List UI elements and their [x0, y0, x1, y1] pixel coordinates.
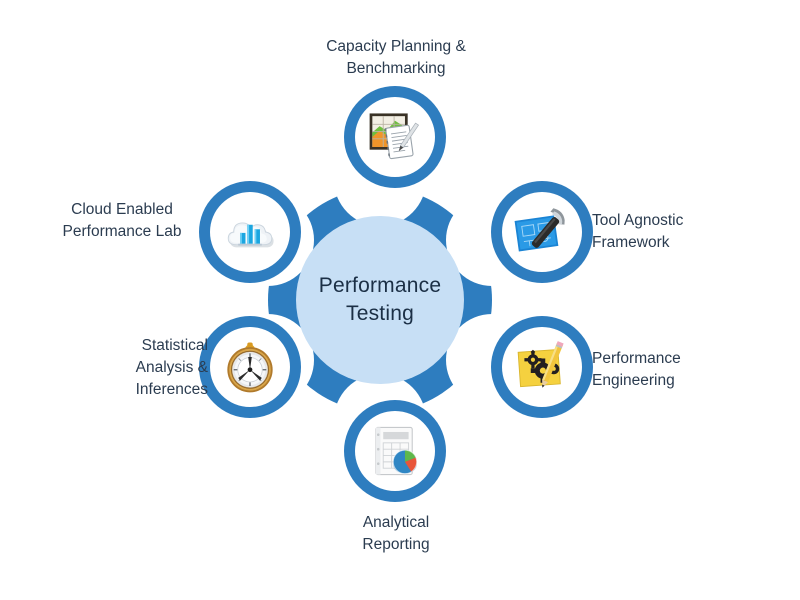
caption-statistical-analysis: Statistical Analysis & Inferences [76, 335, 208, 401]
node-statistical-analysis[interactable] [199, 316, 301, 418]
node-analytical-reporting[interactable] [344, 400, 446, 502]
blueprint-hammer-icon [513, 203, 571, 261]
gears-note-pencil-icon [513, 338, 571, 396]
node-face [210, 192, 290, 272]
node-face [502, 327, 582, 407]
node-performance-engineering[interactable] [491, 316, 593, 418]
compass-icon [221, 338, 279, 396]
center-hub[interactable]: Performance Testing [268, 188, 492, 412]
cloud-barchart-icon [221, 203, 279, 261]
caption-performance-engineering: Performance Engineering [592, 348, 762, 392]
node-face [210, 327, 290, 407]
caption-cloud-performance-lab: Cloud Enabled Performance Lab [36, 199, 208, 243]
node-face [355, 97, 435, 177]
node-face [502, 192, 582, 272]
caption-capacity-planning: Capacity Planning & Benchmarking [296, 36, 496, 80]
chart-notepad-icon [366, 108, 424, 166]
center-label-line-1: Performance [319, 272, 441, 300]
diagram-canvas: Performance Testing [0, 0, 800, 600]
report-piechart-icon [366, 422, 424, 480]
center-label-line-2: Testing [346, 300, 414, 328]
caption-tool-agnostic-framework: Tool Agnostic Framework [592, 210, 762, 254]
caption-analytical-reporting: Analytical Reporting [296, 512, 496, 556]
node-face [355, 411, 435, 491]
node-capacity-planning[interactable] [344, 86, 446, 188]
center-hub-label: Performance Testing [268, 188, 492, 412]
node-cloud-performance-lab[interactable] [199, 181, 301, 283]
node-tool-agnostic-framework[interactable] [491, 181, 593, 283]
